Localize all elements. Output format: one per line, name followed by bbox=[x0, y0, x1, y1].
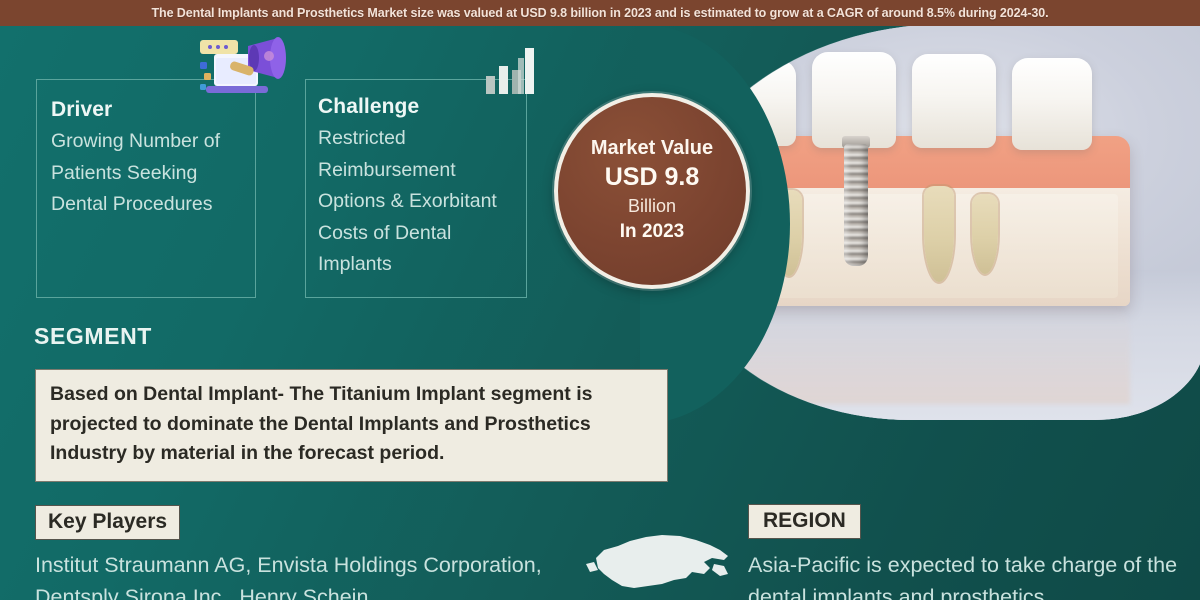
tooth-crown bbox=[812, 52, 896, 148]
bar-chart-icon bbox=[484, 42, 544, 94]
challenge-title: Challenge bbox=[318, 95, 514, 119]
segment-box: Based on Dental Implant- The Titanium Im… bbox=[35, 369, 668, 482]
market-value-unit: Billion bbox=[628, 194, 676, 219]
infographic-page: The Dental Implants and Prosthetics Mark… bbox=[0, 0, 1200, 600]
key-players-badge-label: Key Players bbox=[48, 510, 167, 533]
photo-reflection bbox=[730, 308, 1130, 404]
segment-heading: SEGMENT bbox=[34, 323, 152, 350]
driver-card: Driver Growing Number of Patients Seekin… bbox=[36, 79, 256, 298]
tooth-crown bbox=[912, 54, 996, 148]
tooth-crown bbox=[1012, 58, 1092, 150]
segment-text: Based on Dental Implant- The Titanium Im… bbox=[50, 380, 653, 469]
market-value-year: In 2023 bbox=[620, 219, 684, 246]
region-text: Asia-Pacific is expected to take charge … bbox=[748, 549, 1178, 600]
market-value-badge: Market Value USD 9.8 Billion In 2023 bbox=[554, 93, 750, 289]
region-badge-label: REGION bbox=[763, 509, 846, 532]
tooth-root bbox=[924, 186, 954, 282]
challenge-card: Challenge Restricted Reimbursement Optio… bbox=[305, 79, 527, 298]
challenge-body: Restricted Reimbursement Options & Exorb… bbox=[318, 123, 514, 281]
top-banner: The Dental Implants and Prosthetics Mark… bbox=[0, 0, 1200, 26]
world-map-icon bbox=[578, 528, 753, 600]
key-players-text: Institut Straumann AG, Envista Holdings … bbox=[35, 549, 555, 600]
market-value-amount: USD 9.8 bbox=[605, 161, 699, 194]
titanium-implant-screw bbox=[844, 144, 868, 266]
market-value-label: Market Value bbox=[591, 136, 713, 161]
banner-text: The Dental Implants and Prosthetics Mark… bbox=[152, 6, 1049, 20]
key-players-badge: Key Players bbox=[35, 505, 180, 540]
driver-body: Growing Number of Patients Seeking Denta… bbox=[51, 126, 241, 221]
region-badge: REGION bbox=[748, 504, 861, 539]
tooth-root bbox=[972, 194, 998, 274]
megaphone-laptop-icon bbox=[186, 36, 292, 108]
